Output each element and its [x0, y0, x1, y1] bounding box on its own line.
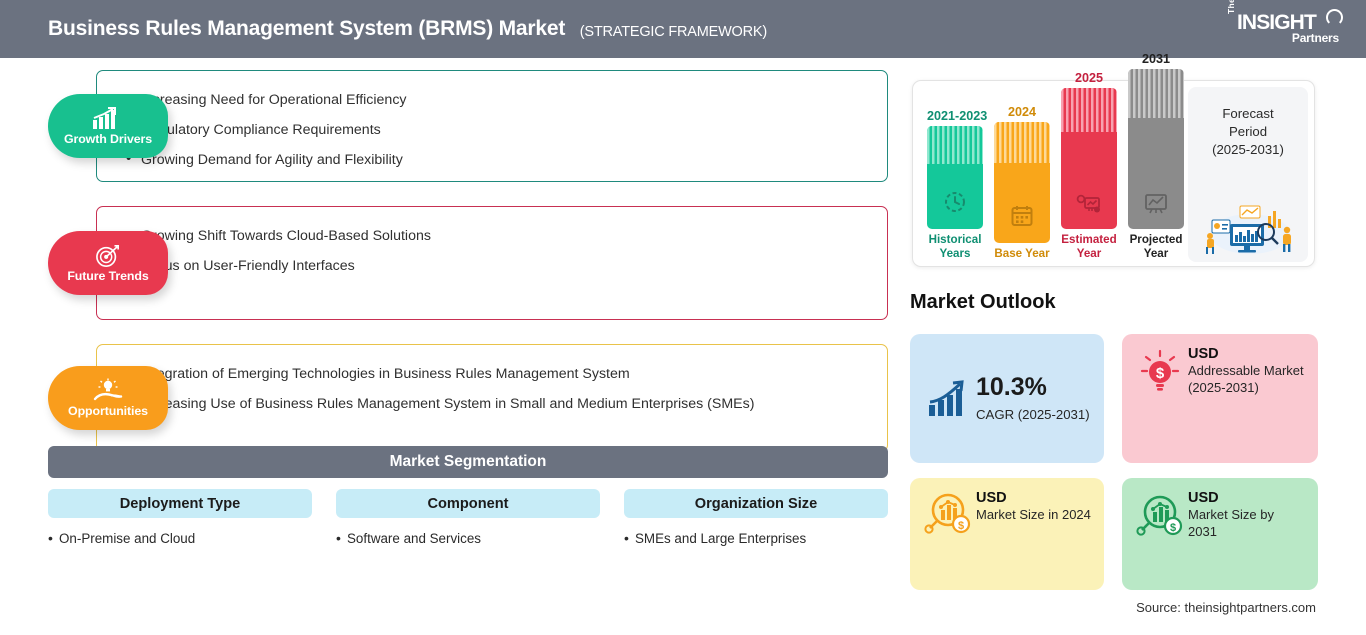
badge-label: Opportunities	[68, 404, 148, 418]
future-trends-badge[interactable]: Future Trends	[48, 231, 168, 295]
opportunities-box: Integration of Emerging Technologies in …	[96, 344, 888, 452]
timeline-bars: 2021-2023 Historical Years 2024	[927, 81, 1179, 268]
factors-section: Increasing Need for Operational Efficien…	[48, 70, 888, 476]
svg-text:$: $	[958, 520, 964, 532]
card-body: $ USD Market Size by 2031	[1134, 490, 1306, 540]
forecast-line-1: Forecast	[1188, 105, 1308, 123]
card-caption: Market Size in 2024	[976, 506, 1092, 523]
segment-item: SMEs and Large Enterprises	[624, 531, 888, 546]
calendar-icon	[994, 203, 1050, 229]
currency-unit: USD	[1188, 346, 1306, 362]
list-item: Regulatory Compliance Requirements	[141, 115, 869, 145]
cagr-text: 10.3% CAGR (2025-2031)	[974, 375, 1092, 422]
opportunities-list: Integration of Emerging Technologies in …	[97, 345, 887, 433]
card-text: USD Market Size in 2024	[974, 490, 1092, 536]
list-item: Increasing Use of Business Rules Managem…	[141, 389, 869, 419]
source-attribution: Source: theinsightpartners.com	[1136, 600, 1316, 615]
cagr-caption: CAGR (2025-2031)	[976, 407, 1092, 422]
insight-partners-logo: The INSIGHT Partners	[1226, 8, 1344, 50]
market-segmentation-columns: Deployment Type On-Premise and Cloud Com…	[48, 489, 888, 546]
bar-striped-top	[1061, 88, 1117, 132]
growth-drivers-box: Increasing Need for Operational Efficien…	[96, 70, 888, 182]
future-trends-box: Growing Shift Towards Cloud-Based Soluti…	[96, 206, 888, 320]
list-item: Increasing Need for Operational Efficien…	[141, 85, 869, 115]
segment-item: On-Premise and Cloud	[48, 531, 312, 546]
segment-header[interactable]: Component	[336, 489, 600, 518]
currency-unit: USD	[1188, 490, 1306, 506]
infographic-page: Business Rules Management System (BRMS) …	[0, 0, 1366, 635]
factor-row-future-trends: Growing Shift Towards Cloud-Based Soluti…	[48, 206, 888, 328]
page-header: Business Rules Management System (BRMS) …	[0, 0, 1366, 58]
presentation-chart-icon	[1128, 191, 1184, 215]
bar-shape	[1128, 69, 1184, 229]
list-item: Integration of Emerging Technologies in …	[141, 359, 869, 389]
list-item: Focus on User-Friendly Interfaces	[141, 251, 869, 281]
svg-text:$: $	[1156, 365, 1165, 382]
bar-shape	[994, 122, 1050, 243]
factor-row-opportunities: Integration of Emerging Technologies in …	[48, 344, 888, 460]
cagr-value: 10.3%	[976, 375, 1092, 400]
segment-column-deployment-type: Deployment Type On-Premise and Cloud	[48, 489, 312, 546]
timeline-bar-base-year: 2024	[994, 105, 1050, 260]
forecast-line-3: (2025-2031)	[1188, 141, 1308, 159]
bar-category-label: Base Year	[994, 247, 1050, 260]
data-analytics-illustration	[1194, 194, 1302, 256]
market-outlook-title: Market Outlook	[910, 291, 1056, 314]
timeline-bar-projected-year: 2031 Projected Year	[1128, 52, 1184, 260]
bar-year-label: 2021-2023	[927, 109, 983, 123]
segment-header[interactable]: Deployment Type	[48, 489, 312, 518]
badge-label: Future Trends	[67, 269, 148, 283]
bar-striped-top	[927, 126, 983, 164]
logo-partners-text: Partners	[1292, 31, 1339, 45]
segment-column-component: Component Software and Services	[336, 489, 600, 546]
market-size-2031-card: $ USD Market Size by 2031	[1122, 478, 1318, 590]
segment-header[interactable]: Organization Size	[624, 489, 888, 518]
segment-column-organization-size: Organization Size SMEs and Large Enterpr…	[624, 489, 888, 546]
bar-category-label: Projected Year	[1128, 233, 1184, 260]
timeline-bar-historical-years: 2021-2023 Historical Years	[927, 109, 983, 260]
logo-the-text: The	[1226, 0, 1236, 14]
bar-category-label: Historical Years	[927, 233, 983, 260]
timeline-bar-estimated-year: 2025 Estimated Year	[1061, 71, 1117, 260]
forecast-line-2: Period	[1188, 123, 1308, 141]
bar-year-label: 2025	[1061, 71, 1117, 85]
factor-row-growth-drivers: Increasing Need for Operational Efficien…	[48, 70, 888, 190]
card-text: USD Market Size by 2031	[1186, 490, 1306, 540]
hand-lightbulb-icon	[91, 378, 125, 403]
card-caption: Market Size by 2031	[1188, 506, 1306, 540]
segment-item: Software and Services	[336, 531, 600, 546]
future-trends-list: Growing Shift Towards Cloud-Based Soluti…	[97, 207, 887, 295]
card-body: $ USD Addressable Market (2025-2031)	[1134, 346, 1306, 396]
bar-chart-growth-icon	[922, 379, 974, 419]
study-period-timeline-card: 2021-2023 Historical Years 2024	[912, 80, 1315, 267]
list-item: Growing Demand for Agility and Flexibili…	[141, 145, 869, 175]
growth-drivers-list: Increasing Need for Operational Efficien…	[97, 71, 887, 190]
addressable-market-card: $ USD Addressable Market (2025-2031)	[1122, 334, 1318, 463]
bar-shape	[1061, 88, 1117, 229]
page-title-text: Business Rules Management System (BRMS) …	[48, 17, 565, 40]
forecast-period-panel: Forecast Period (2025-2031)	[1188, 87, 1308, 262]
market-segmentation-header: Market Segmentation	[48, 446, 888, 478]
history-clock-icon	[927, 189, 983, 215]
page-subtitle: (STRATEGIC FRAMEWORK)	[580, 24, 767, 40]
currency-unit: USD	[976, 490, 1092, 506]
opportunities-badge[interactable]: Opportunities	[48, 366, 168, 430]
bar-year-label: 2024	[994, 105, 1050, 119]
forecast-gear-chart-icon	[1061, 191, 1117, 215]
bar-year-label: 2031	[1128, 52, 1184, 66]
magnifier-chart-dollar-icon: $	[1134, 490, 1186, 540]
list-item: Growing Shift Towards Cloud-Based Soluti…	[141, 221, 869, 251]
magnifier-chart-dollar-icon: $	[922, 490, 974, 536]
growth-drivers-badge[interactable]: Growth Drivers	[48, 94, 168, 158]
badge-label: Growth Drivers	[64, 132, 152, 146]
svg-text:$: $	[1170, 522, 1176, 534]
bar-shape	[927, 126, 983, 229]
lightbulb-dollar-icon: $	[1134, 346, 1186, 396]
card-text: USD Addressable Market (2025-2031)	[1186, 346, 1306, 396]
card-body: $ USD Market Size in 2024	[922, 490, 1092, 536]
target-dart-icon	[93, 243, 123, 268]
logo-ring-icon	[1326, 9, 1343, 26]
market-size-2024-card: $ USD Market Size in 2024	[910, 478, 1104, 590]
card-caption: Addressable Market (2025-2031)	[1188, 362, 1306, 396]
bar-category-label: Estimated Year	[1061, 233, 1117, 260]
bar-striped-top	[994, 122, 1050, 163]
cagr-card: 10.3% CAGR (2025-2031)	[910, 334, 1104, 463]
bar-chart-arrow-icon	[91, 106, 125, 131]
page-title: Business Rules Management System (BRMS) …	[48, 17, 767, 41]
bar-striped-top	[1128, 69, 1184, 118]
